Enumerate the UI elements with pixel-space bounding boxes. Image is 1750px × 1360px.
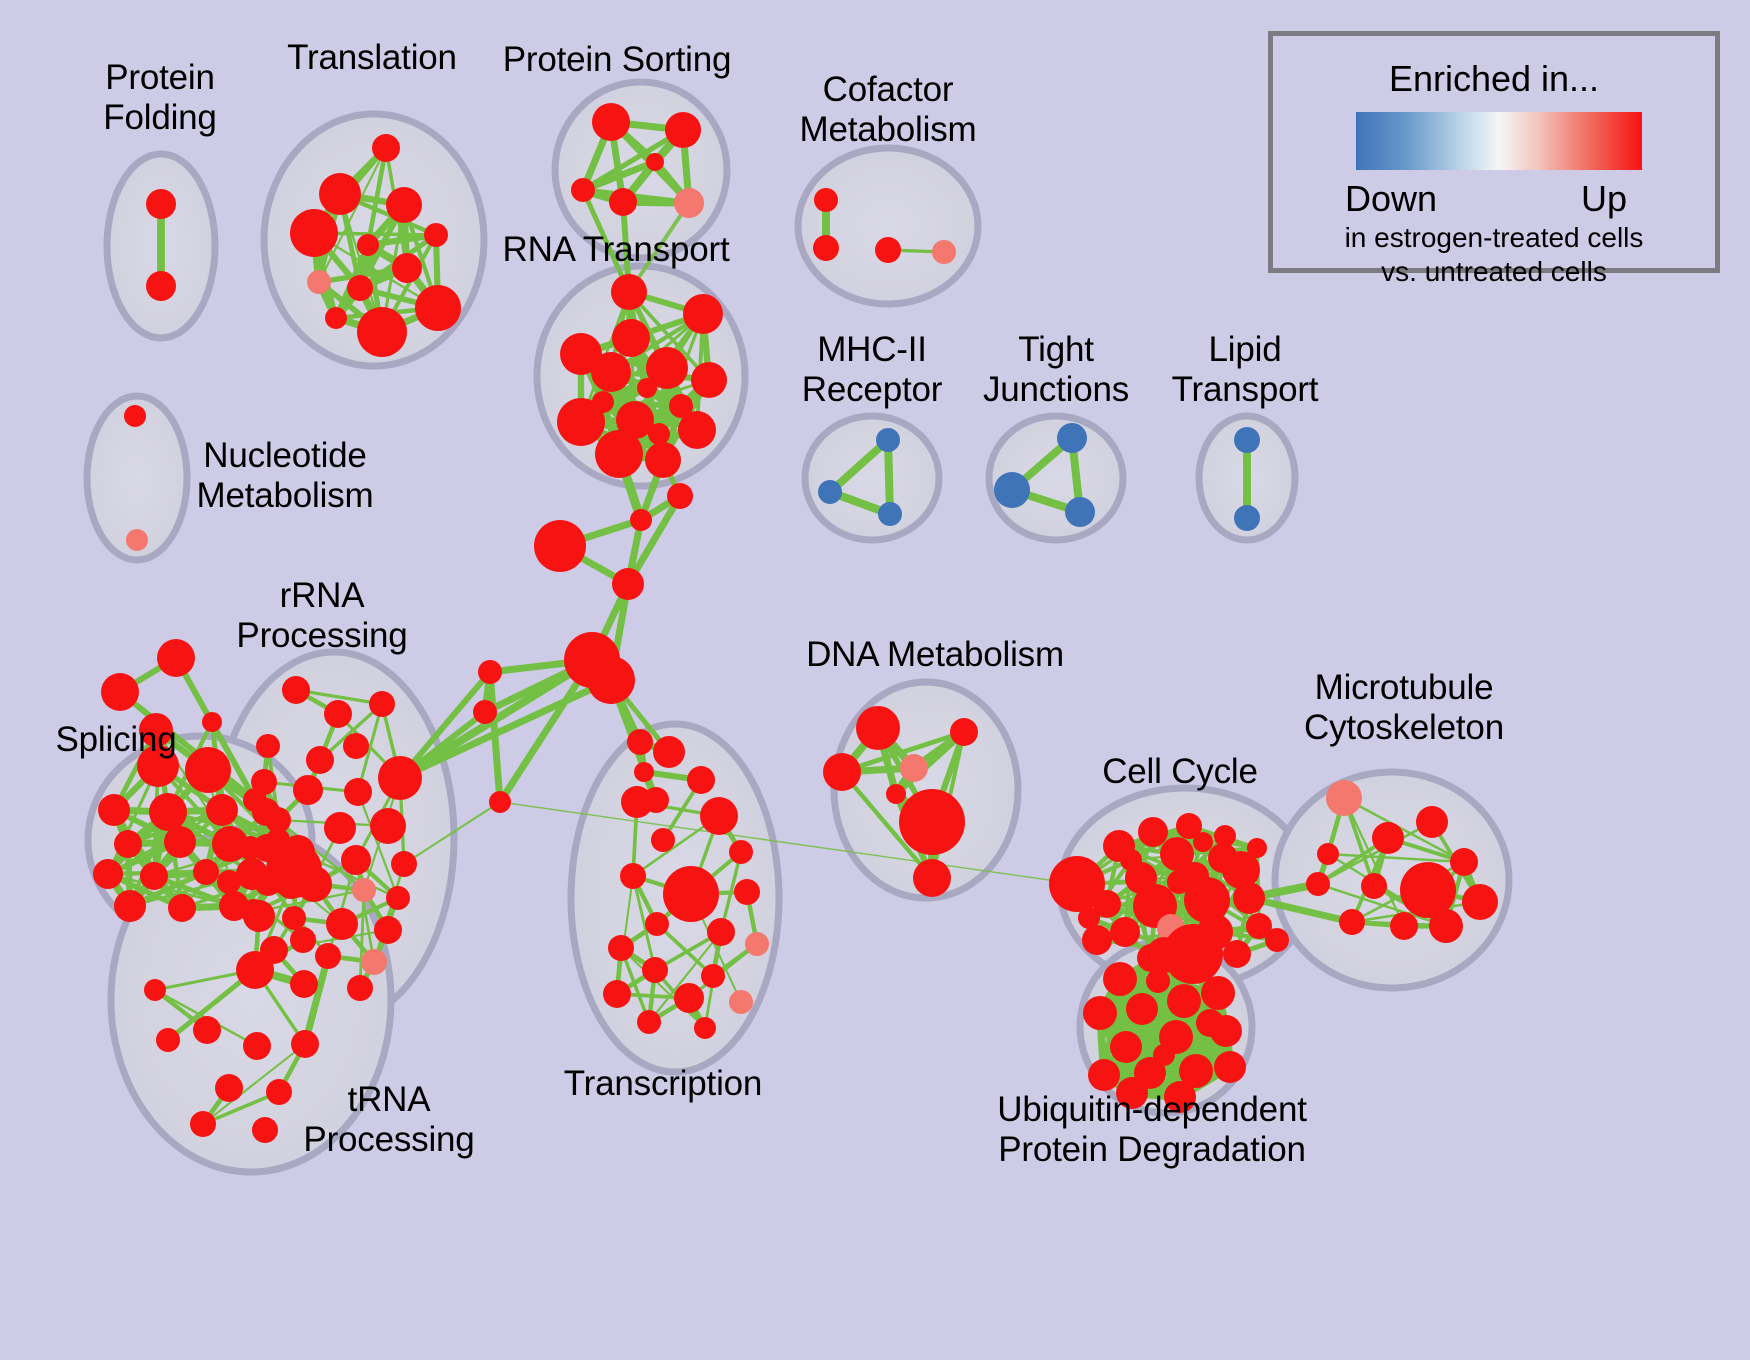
network-node-rrna-processing [347,975,373,1001]
network-node-trna-processing [193,1016,221,1044]
network-node-ubiquitin-degradation [1214,1051,1246,1083]
network-node-lipid-transport [1234,505,1260,531]
cluster-label-transcription: Transcription [443,1064,883,1104]
network-node-translation [415,285,461,331]
network-node-bridge [630,509,652,531]
network-node-microtubule-cytoskeleton [1372,822,1404,854]
network-node-transcription [645,912,669,936]
network-node-rna-transport [591,352,631,392]
network-node-bridge [478,660,502,684]
network-node-splicing [164,826,196,858]
network-node-rrna-processing [326,908,358,940]
network-node-protein-sorting [592,103,630,141]
network-node-cell-cycle [1265,928,1289,952]
network-node-trna-processing [236,951,274,989]
network-node-ubiquitin-degradation [1153,1044,1175,1066]
network-node-bridge [473,700,497,724]
network-node-rna-transport [648,423,670,445]
network-node-dna-metabolism [856,706,900,750]
network-node-bridge [587,656,635,704]
network-node-transcription [637,1010,661,1034]
network-node-nucleotide-metabolism [126,529,148,551]
network-node-trna-processing [253,834,281,862]
cluster-label-dna-metabolism: DNA Metabolism [715,635,1155,675]
network-node-cell-cycle [1138,817,1168,847]
cluster-label-rna-transport: RNA Transport [396,230,836,270]
network-node-transcription [734,879,760,905]
network-node-translation [372,134,400,162]
cluster-label-lipid-transport: Lipid Transport [1025,330,1465,410]
network-node-splicing [98,794,130,826]
network-node-transcription [729,840,753,864]
network-node-splicing [101,673,139,711]
network-node-bridge [612,568,644,600]
network-node-protein-folding [146,189,176,219]
network-node-splicing [212,826,248,862]
network-node-trna-processing [276,869,306,899]
network-node-trna-processing [290,927,316,953]
network-node-trna-processing [291,1030,319,1058]
network-node-transcription [620,863,646,889]
network-node-splicing [149,793,187,831]
network-node-splicing [168,894,196,922]
network-node-rrna-processing [391,851,417,877]
network-node-transcription [745,932,769,956]
network-node-dna-metabolism [950,718,978,746]
network-node-transcription [729,990,753,1014]
network-node-rna-transport [683,294,723,334]
cluster-label-rrna-processing: rRNA Processing [102,576,542,656]
cluster-hull-mhc-ii-receptor [805,416,939,540]
network-node-transcription [651,828,675,852]
network-node-rna-transport [595,430,643,478]
network-node-cell-cycle [1223,940,1251,968]
network-node-cell-cycle [1082,925,1112,955]
network-node-rrna-processing [290,970,318,998]
network-node-cell-cycle [1120,849,1142,871]
network-node-transcription [603,980,631,1008]
network-node-translation [307,270,331,294]
network-node-ubiquitin-degradation [1083,996,1117,1030]
network-node-microtubule-cytoskeleton [1317,843,1339,865]
legend-up-label: Up [1581,178,1627,220]
network-node-transcription [687,766,715,794]
network-node-dna-metabolism [823,753,861,791]
network-node-protein-sorting [646,153,664,171]
network-node-ubiquitin-degradation [1146,937,1182,973]
legend-subtitle-line2: vs. untreated cells [1273,256,1715,288]
cluster-label-nucleotide-metabolism: Nucleotide Metabolism [65,436,505,516]
network-node-protein-sorting [571,178,595,202]
network-node-transcription [608,935,634,961]
network-node-bridge [643,787,669,813]
network-node-bridge [634,762,654,782]
network-node-rrna-processing [344,778,372,806]
network-node-dna-metabolism [899,789,965,855]
network-node-transcription [701,964,725,988]
color-scale-bar [1356,112,1642,170]
network-node-translation [319,173,361,215]
network-node-rrna-processing [343,733,369,759]
network-node-mhc-ii-receptor [878,502,902,526]
network-node-rrna-processing [378,756,422,800]
network-node-rna-transport [592,391,614,413]
network-node-cell-cycle [1078,907,1100,929]
network-node-nucleotide-metabolism [124,405,146,427]
network-node-translation [357,307,407,357]
network-node-dna-metabolism [886,784,906,804]
network-node-transcription [694,1017,716,1039]
network-node-dna-metabolism [900,754,928,782]
cluster-label-microtubule-cytoskeleton: Microtubule Cytoskeleton [1184,668,1624,748]
cluster-label-ubiquitin-degradation: Ubiquitin-dependent Protein Degradation [932,1090,1372,1170]
network-node-ubiquitin-degradation [1201,976,1235,1010]
network-node-bridge [667,483,693,509]
network-node-splicing [243,788,267,812]
network-node-splicing [156,1028,180,1052]
legend-subtitle-line1: in estrogen-treated cells [1273,222,1715,254]
network-node-cell-cycle [1233,882,1265,914]
network-node-microtubule-cytoskeleton [1416,806,1448,838]
network-node-translation [386,187,422,223]
network-node-splicing [93,859,123,889]
network-node-tight-junctions [1057,423,1087,453]
network-node-cofactor-metabolism [814,188,838,212]
network-node-ubiquitin-degradation [1126,993,1158,1025]
network-node-splicing [236,858,268,890]
network-node-splicing [206,794,238,826]
cluster-label-cofactor-metabolism: Cofactor Metabolism [668,70,1108,150]
network-node-tight-junctions [994,472,1030,508]
network-node-cell-cycle [1214,825,1236,847]
network-node-rrna-processing [369,691,395,717]
network-node-splicing [114,890,146,922]
network-node-ubiquitin-degradation [1196,1009,1224,1037]
network-node-microtubule-cytoskeleton [1429,909,1463,943]
network-node-cell-cycle [1247,838,1267,858]
network-node-rrna-processing [370,808,406,844]
network-node-tight-junctions [1065,497,1095,527]
network-node-transcription [707,918,735,946]
network-node-cofactor-metabolism [875,237,901,263]
network-node-translation [325,307,347,329]
network-node-rrna-processing [374,916,402,944]
network-node-transcription [700,797,738,835]
network-node-bridge [627,729,653,755]
network-node-rrna-processing [282,676,310,704]
network-node-splicing [114,830,142,858]
network-node-splicing [140,862,168,890]
legend-box: Enriched in... Down Up in estrogen-treat… [1268,31,1720,273]
network-node-rrna-processing [282,906,306,930]
network-node-rna-transport [645,442,681,478]
network-node-protein-sorting [674,188,704,218]
network-node-ubiquitin-degradation [1110,1031,1142,1063]
network-node-rrna-processing [293,775,323,805]
network-node-rrna-processing [361,949,387,975]
network-node-mhc-ii-receptor [876,428,900,452]
network-node-trna-processing [144,979,166,1001]
network-node-protein-folding [146,271,176,301]
network-node-rrna-processing [341,845,371,875]
network-node-trna-processing [243,900,275,932]
network-node-translation [357,234,379,256]
network-node-dna-metabolism [913,859,951,897]
network-node-microtubule-cytoskeleton [1450,848,1478,876]
network-node-translation [290,209,338,257]
network-node-cell-cycle [1110,917,1140,947]
network-node-microtubule-cytoskeleton [1462,884,1498,920]
network-node-cell-cycle [1167,870,1191,894]
network-node-rrna-processing [386,886,410,910]
network-node-lipid-transport [1234,427,1260,453]
network-node-transcription [653,736,685,768]
network-node-ubiquitin-degradation [1088,1059,1120,1091]
network-node-transcription [674,983,704,1013]
network-node-rrna-processing [315,943,341,969]
network-node-ubiquitin-degradation [1146,969,1170,993]
network-node-rrna-processing [324,812,356,844]
network-node-microtubule-cytoskeleton [1361,873,1387,899]
network-node-ubiquitin-degradation [1103,962,1137,996]
network-node-mhc-ii-receptor [818,480,842,504]
legend-down-label: Down [1345,178,1437,220]
network-node-transcription [663,866,719,922]
network-node-cell-cycle [1193,832,1213,852]
cluster-label-cell-cycle: Cell Cycle [960,752,1400,792]
network-node-microtubule-cytoskeleton [1339,909,1365,935]
network-node-rna-transport [611,274,647,310]
network-node-microtubule-cytoskeleton [1306,872,1330,896]
legend-title: Enriched in... [1273,58,1715,100]
network-node-trna-processing [217,870,241,894]
network-node-ubiquitin-degradation [1167,984,1201,1018]
network-node-splicing [193,859,219,885]
network-node-transcription [642,957,668,983]
network-node-cofactor-metabolism [932,240,956,264]
network-node-translation [347,275,373,301]
network-node-protein-sorting [609,188,637,216]
network-figure: Protein FoldingTranslationProtein Sortin… [0,0,1750,1360]
cluster-label-splicing: Splicing [0,720,336,760]
network-node-trna-processing [243,1032,271,1060]
network-node-bridge [534,520,586,572]
network-node-rna-transport [612,319,650,357]
network-node-rrna-processing [352,878,376,902]
network-node-microtubule-cytoskeleton [1390,912,1418,940]
network-node-bridge [489,791,511,813]
